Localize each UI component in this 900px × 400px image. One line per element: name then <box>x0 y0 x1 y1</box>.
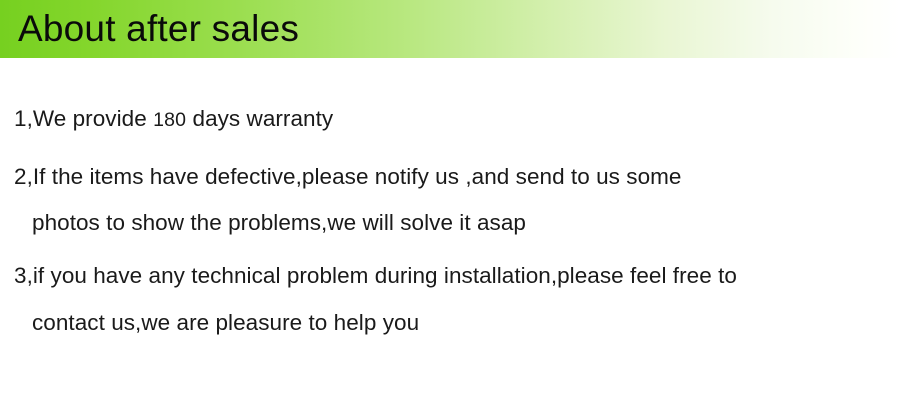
header-gradient-banner: About after sales <box>0 0 900 58</box>
page-title: About after sales <box>18 2 299 56</box>
terms-item-3-continuation: contact us,we are pleasure to help you <box>32 308 419 338</box>
after-sales-info-panel: About after sales 1,We provide 180 days … <box>0 0 900 400</box>
terms-item-2: 2,If the items have defective,please not… <box>14 162 681 192</box>
terms-item-3: 3,if you have any technical problem duri… <box>14 261 737 291</box>
warranty-days-value: 180 <box>153 109 186 131</box>
terms-item-1: 1,We provide 180 days warranty <box>14 104 333 135</box>
terms-item-1-text-tail: days warranty <box>186 106 333 131</box>
terms-item-1-text-lead: 1,We provide <box>14 106 153 131</box>
after-sales-terms-list: 1,We provide 180 days warranty 2,If the … <box>0 58 900 400</box>
terms-item-2-continuation: photos to show the problems,we will solv… <box>32 208 526 238</box>
